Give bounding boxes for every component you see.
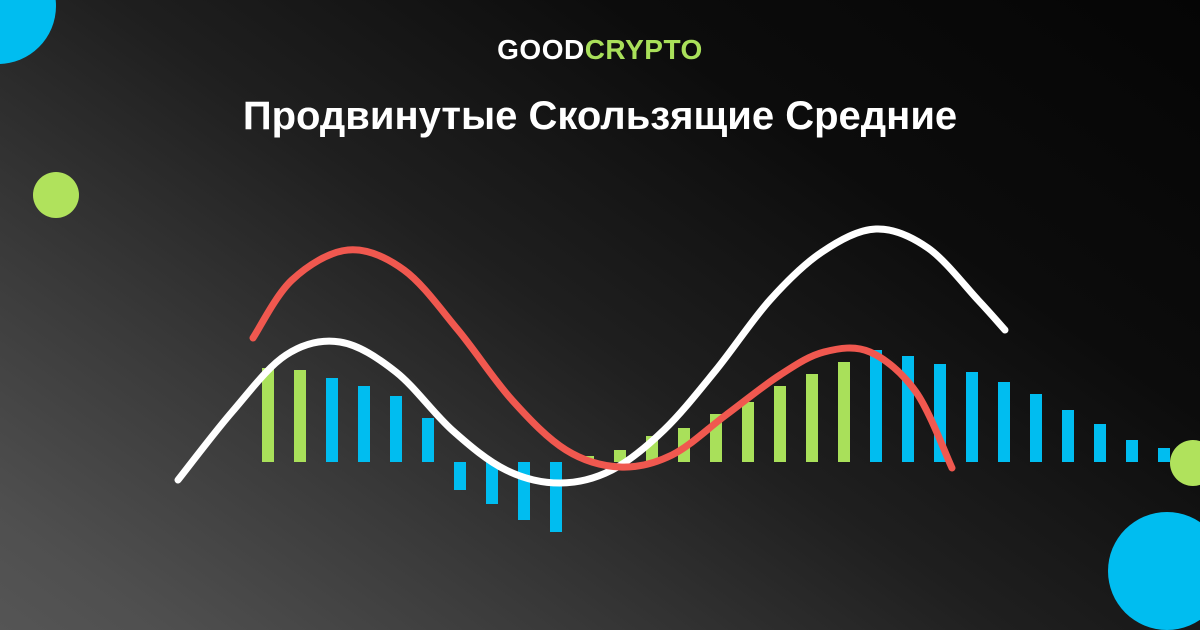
histogram-bar — [358, 386, 370, 462]
histogram-bar — [1126, 440, 1138, 462]
histogram-bar — [262, 368, 274, 462]
histogram-bar — [838, 362, 850, 462]
histogram-bar — [454, 462, 466, 490]
histogram-bar — [998, 382, 1010, 462]
brand-logo-primary: GOOD — [497, 34, 585, 65]
histogram-bar — [518, 462, 530, 520]
histogram-bar — [774, 386, 786, 462]
histogram-bar — [422, 418, 434, 462]
page-title: Продвинутые Скользящие Средние — [0, 92, 1200, 140]
brand-logo: GOODCRYPTO — [0, 36, 1200, 64]
histogram-bar — [390, 396, 402, 462]
brand-logo-secondary: CRYPTO — [585, 34, 703, 65]
histogram-bar — [966, 372, 978, 462]
histogram-bar — [806, 374, 818, 462]
histogram-bar — [742, 402, 754, 462]
histogram-bar — [870, 350, 882, 462]
promo-banner: GOODCRYPTO Продвинутые Скользящие Средни… — [0, 0, 1200, 630]
histogram-bar — [1030, 394, 1042, 462]
histogram-bar — [1158, 448, 1170, 462]
histogram-bar — [550, 462, 562, 532]
histogram-bar — [294, 370, 306, 462]
histogram-bar — [1062, 410, 1074, 462]
histogram-bar — [1094, 424, 1106, 462]
histogram-bar — [326, 378, 338, 462]
